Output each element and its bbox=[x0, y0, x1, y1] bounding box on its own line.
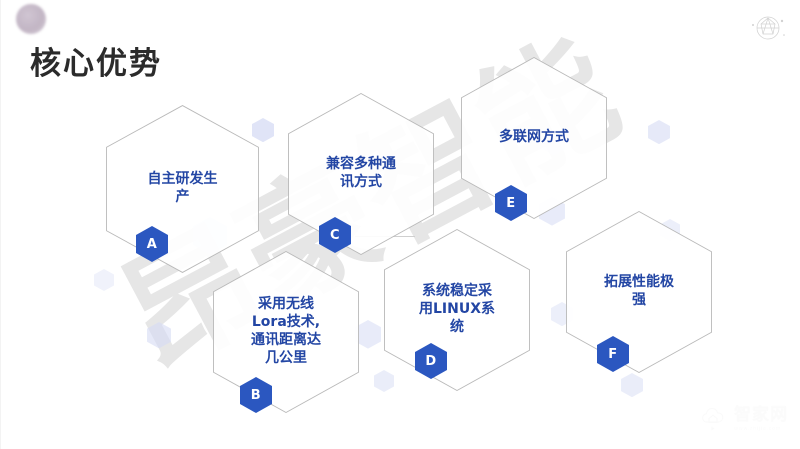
site-logo-watermark: 智家网 www.zhijia.com bbox=[699, 405, 788, 433]
badge-letter: A bbox=[136, 226, 168, 262]
hexagon-label-a: 自主研发生 产 bbox=[127, 171, 239, 207]
hexagon-card-f[interactable]: 拓展性能极 强 bbox=[565, 210, 713, 374]
badge-letter: F bbox=[597, 336, 629, 372]
hexagon-card-a[interactable]: 自主研发生 产 bbox=[105, 104, 260, 274]
badge-letter: D bbox=[415, 343, 447, 379]
diamond-gem-icon bbox=[744, 6, 788, 50]
hexagon-card-b[interactable]: 采用无线 Lora技术, 通讯距离达 几公里 bbox=[212, 250, 360, 414]
page-title: 核心优势 bbox=[30, 38, 162, 83]
hexagon-label-e: 多联网方式 bbox=[481, 129, 588, 147]
left-edge-line bbox=[0, 0, 1, 449]
badge-letter: E bbox=[495, 185, 527, 221]
badge-letter: C bbox=[319, 217, 351, 253]
hexagon-badge-e[interactable]: E bbox=[495, 185, 527, 221]
hexagon-label-b: 采用无线 Lora技术, 通讯距离达 几公里 bbox=[233, 296, 340, 368]
hexagon-label-f: 拓展性能极 强 bbox=[586, 274, 693, 310]
hexagon-badge-f[interactable]: F bbox=[597, 336, 629, 372]
hexagon-label-c: 兼容多种通 讯方式 bbox=[308, 156, 415, 192]
cloud-house-icon bbox=[699, 405, 727, 433]
logo-url: www.zhijia.com bbox=[734, 427, 788, 432]
hexagon-card-e[interactable]: 多联网方式 bbox=[460, 56, 608, 220]
logo-name: 智家网 bbox=[734, 407, 788, 424]
hexagon-label-d: 系统稳定采 用LINUX系 统 bbox=[404, 283, 511, 337]
hexagon-card-d[interactable]: 系统稳定采 用LINUX系 统 bbox=[383, 228, 531, 392]
hexagon-badge-c[interactable]: C bbox=[319, 217, 351, 253]
hexagon-badge-d[interactable]: D bbox=[415, 343, 447, 379]
slide-canvas: 昂豪智能 核心优势 自主研发生 产A采用无线 Lora技术, 通讯距离达 几公里… bbox=[0, 0, 800, 449]
hexagon-badge-a[interactable]: A bbox=[136, 226, 168, 262]
badge-letter: B bbox=[240, 377, 272, 413]
hexagon-badge-b[interactable]: B bbox=[240, 377, 272, 413]
blurred-circle-icon bbox=[16, 4, 46, 34]
